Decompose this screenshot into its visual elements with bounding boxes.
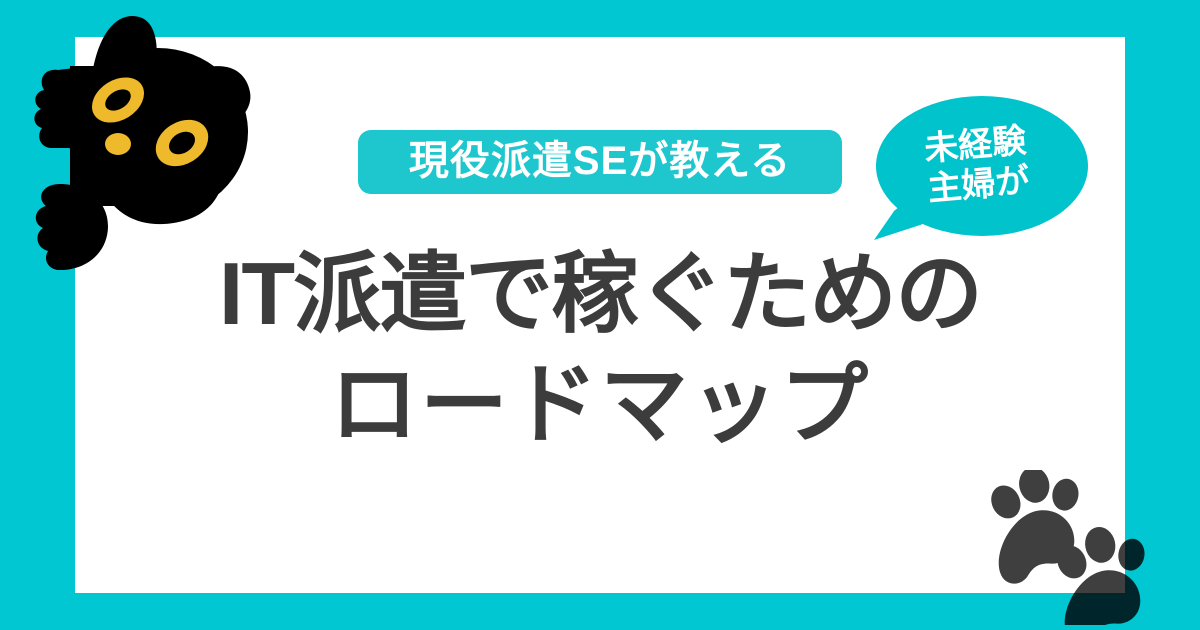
main-title: IT派遣で稼ぐための ロードマップ	[75, 246, 1125, 452]
subtitle-badge-label: 現役派遣SEが教える	[409, 141, 791, 181]
thumbnail-canvas: 現役派遣SEが教える 未経験 主婦が IT派遣で稼ぐための ロードマップ	[0, 0, 1200, 630]
main-title-line-2: ロードマップ	[75, 357, 1125, 452]
speech-bubble-text: 未経験 主婦が	[860, 87, 1093, 246]
speech-bubble-line-1: 未経験	[923, 124, 1028, 168]
subtitle-badge: 現役派遣SEが教える	[358, 130, 842, 194]
speech-bubble: 未経験 主婦が	[866, 96, 1088, 256]
main-title-line-1: IT派遣で稼ぐための	[75, 246, 1125, 341]
speech-bubble-line-2: 主婦が	[926, 164, 1031, 208]
